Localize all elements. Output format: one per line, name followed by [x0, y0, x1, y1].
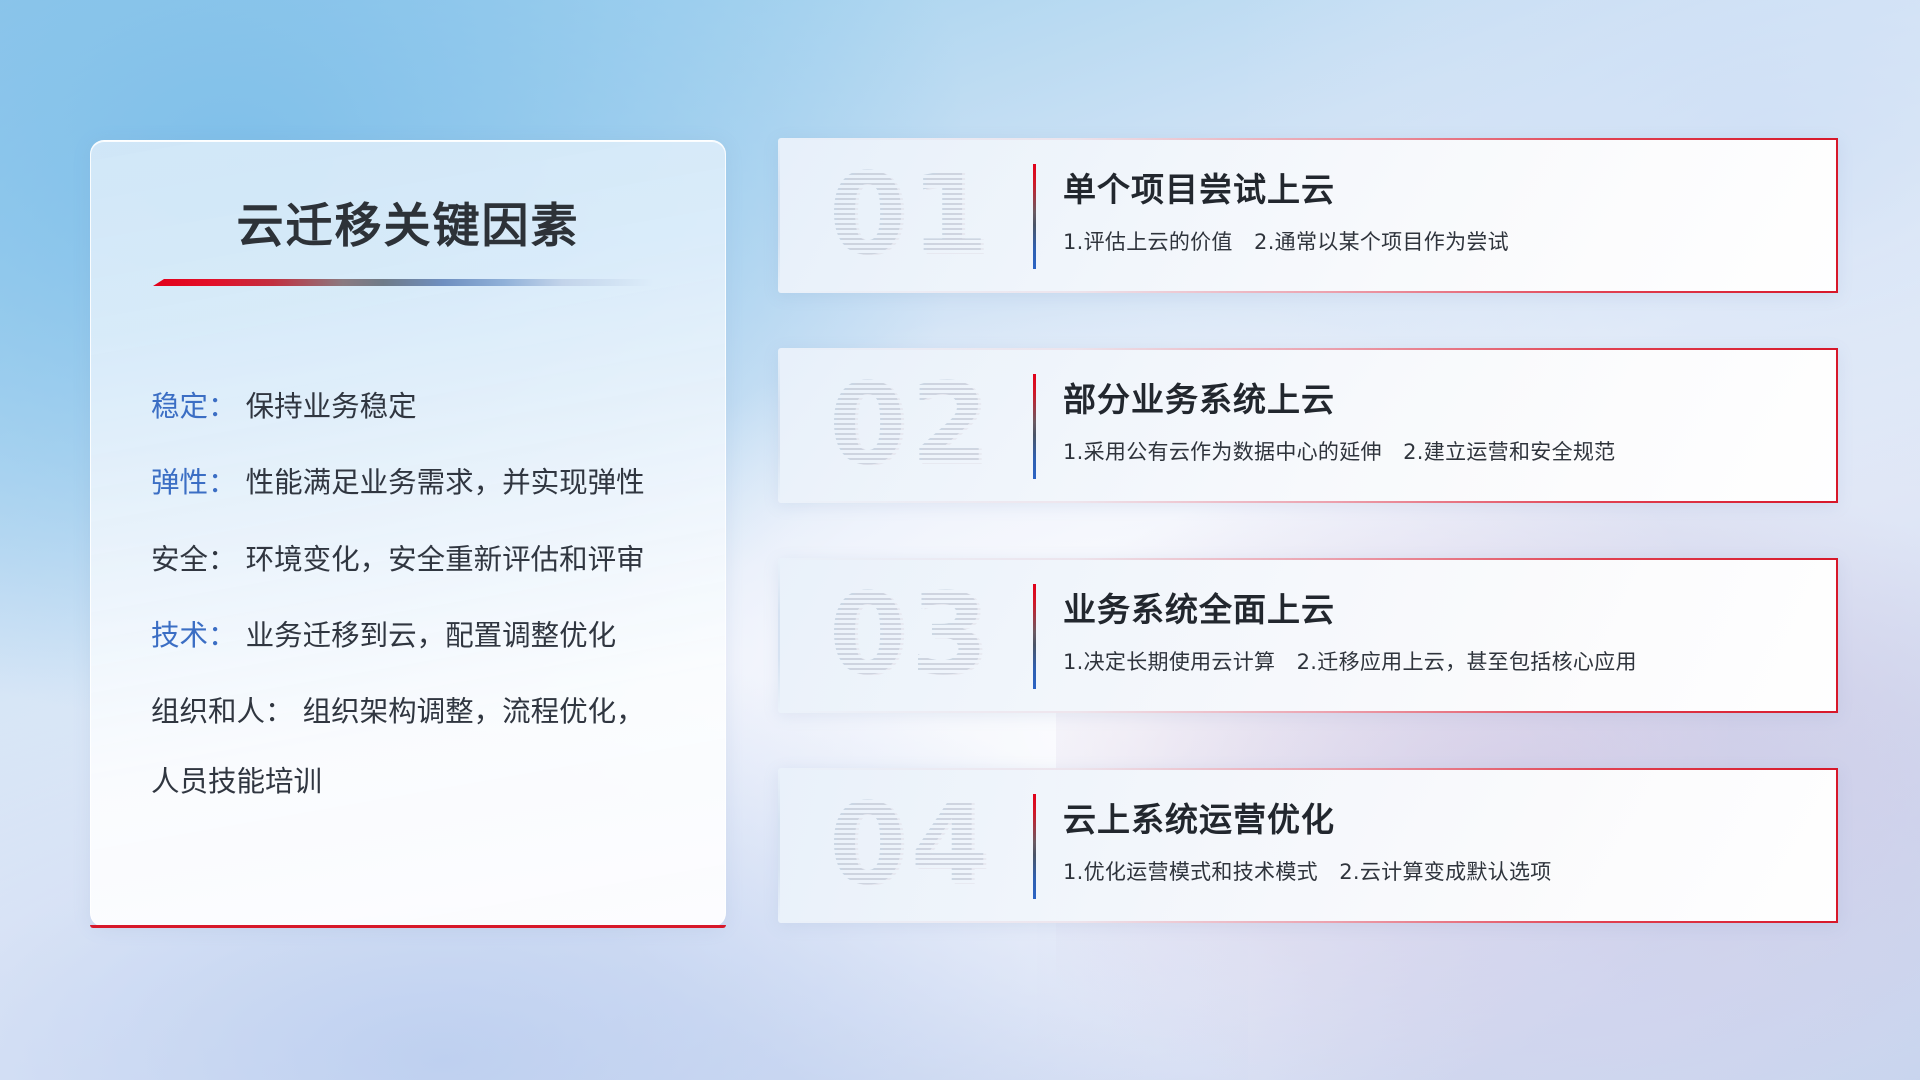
card-right-accent [1836, 138, 1839, 293]
factor-row: 人员技能培训 [151, 766, 685, 797]
card-right-accent [1836, 348, 1839, 503]
stage-title: 部分业务系统上云 [1063, 373, 1335, 421]
stage-card[interactable]: 01单个项目尝试上云1.评估上云的价值 2.通常以某个项目作为尝试 [778, 138, 1838, 293]
factor-value: 环境变化，安全重新评估和评审 [237, 543, 645, 576]
card-top-edge [778, 348, 1838, 350]
stage-accent-bar [1033, 164, 1036, 269]
card-top-edge [778, 558, 1838, 560]
factor-row: 稳定： 保持业务稳定 [151, 391, 685, 422]
factor-row: 安全： 环境变化，安全重新评估和评审 [151, 544, 685, 575]
slide-stage: 云迁移关键因素 稳定： 保持业务稳定弹性： 性能满足业务需求，并实现弹性安全： … [0, 0, 1920, 1080]
factor-row: 弹性： 性能满足业务需求，并实现弹性 [151, 467, 685, 498]
card-left-edge [778, 348, 780, 503]
stage-accent-bar [1033, 374, 1036, 479]
card-bottom-edge [778, 921, 1838, 923]
factor-value: 业务迁移到云，配置调整优化 [237, 619, 617, 652]
stage-number: 03 [808, 568, 1013, 703]
stage-title: 业务系统全面上云 [1063, 583, 1335, 631]
factor-label: 弹性： [151, 466, 237, 499]
stage-subtitle: 1.优化运营模式和技术模式 2.云计算变成默认选项 [1063, 856, 1552, 886]
card-top-edge [778, 138, 1838, 140]
stage-card[interactable]: 02部分业务系统上云1.采用公有云作为数据中心的延伸 2.建立运营和安全规范 [778, 348, 1838, 503]
factor-label: 稳定： [151, 390, 237, 423]
factor-label: 技术： [151, 619, 237, 652]
stage-accent-bar [1033, 794, 1036, 899]
factor-label: 安全： [151, 543, 237, 576]
factor-list: 稳定： 保持业务稳定弹性： 性能满足业务需求，并实现弹性安全： 环境变化，安全重… [151, 391, 685, 835]
key-factors-panel: 云迁移关键因素 稳定： 保持业务稳定弹性： 性能满足业务需求，并实现弹性安全： … [90, 140, 726, 927]
stage-card[interactable]: 03业务系统全面上云1.决定长期使用云计算 2.迁移应用上云，甚至包括核心应用 [778, 558, 1838, 713]
stage-subtitle: 1.决定长期使用云计算 2.迁移应用上云，甚至包括核心应用 [1063, 646, 1637, 676]
factor-row: 技术： 业务迁移到云，配置调整优化 [151, 620, 685, 651]
card-bottom-edge [778, 501, 1838, 503]
card-right-accent [1836, 768, 1839, 923]
stage-title: 云上系统运营优化 [1063, 793, 1335, 841]
card-left-edge [778, 138, 780, 293]
card-top-edge [778, 768, 1838, 770]
stage-card-list: 01单个项目尝试上云1.评估上云的价值 2.通常以某个项目作为尝试02部分业务系… [778, 138, 1838, 978]
card-left-edge [778, 768, 780, 923]
stage-number: 04 [808, 778, 1013, 913]
stage-number: 01 [808, 148, 1013, 283]
stage-accent-bar [1033, 584, 1036, 689]
factor-value: 组织架构调整，流程优化， [294, 695, 645, 728]
card-bottom-edge [778, 711, 1838, 713]
card-bottom-edge [778, 291, 1838, 293]
factor-label: 组织和人： [151, 695, 294, 728]
page-title: 云迁移关键因素 [91, 187, 725, 256]
card-right-accent [1836, 558, 1839, 713]
factor-value: 人员技能培训 [151, 765, 322, 798]
stage-title: 单个项目尝试上云 [1063, 163, 1335, 211]
stage-card[interactable]: 04云上系统运营优化1.优化运营模式和技术模式 2.云计算变成默认选项 [778, 768, 1838, 923]
key-factors-panel-bottom-accent [90, 925, 726, 928]
factor-value: 保持业务稳定 [237, 390, 417, 423]
stage-number: 02 [808, 358, 1013, 493]
title-underline-rule [153, 279, 653, 286]
factor-value: 性能满足业务需求，并实现弹性 [237, 466, 645, 499]
stage-subtitle: 1.采用公有云作为数据中心的延伸 2.建立运营和安全规范 [1063, 436, 1615, 466]
card-left-edge [778, 558, 780, 713]
stage-subtitle: 1.评估上云的价值 2.通常以某个项目作为尝试 [1063, 226, 1509, 256]
factor-row: 组织和人： 组织架构调整，流程优化， [151, 696, 685, 727]
